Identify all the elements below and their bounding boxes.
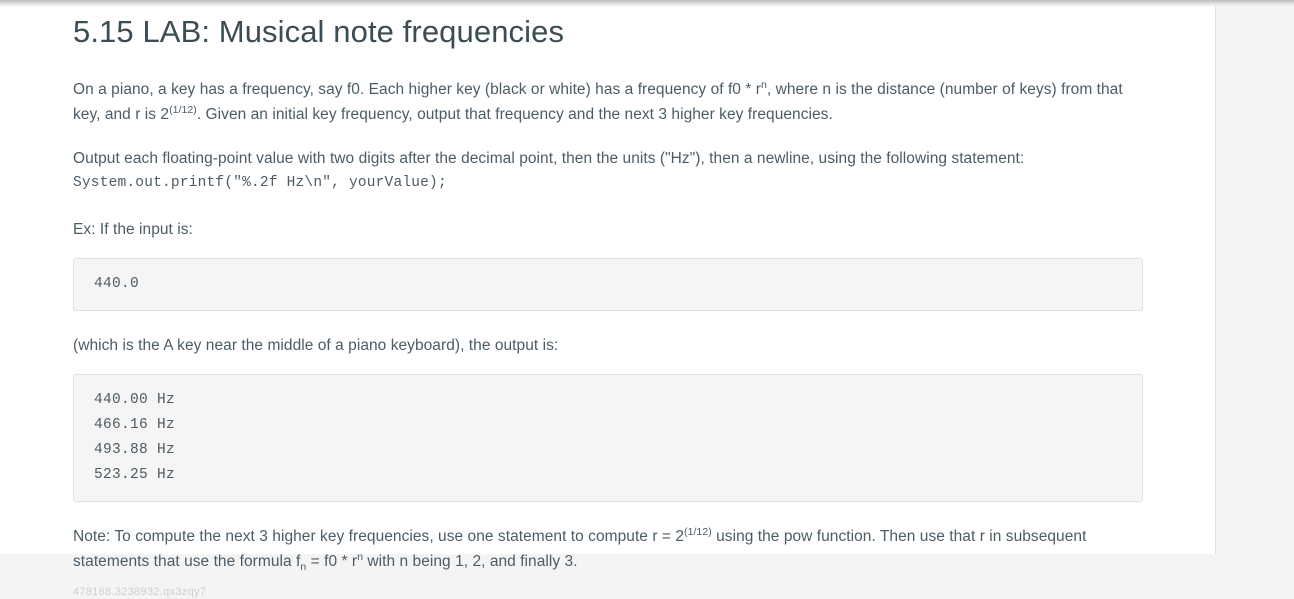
note-part3: = f0 * r [306, 553, 357, 570]
output-code-block: 440.00 Hz 466.16 Hz 493.88 Hz 523.25 Hz [73, 374, 1143, 502]
code-line: 523.25 Hz [94, 463, 1124, 488]
page-title: 5.15 LAB: Musical note frequencies [73, 0, 1143, 51]
intro-part1: On a piano, a key has a frequency, say f… [73, 81, 761, 98]
code-line: 440.0 [94, 272, 1124, 297]
intro-part3: . Given an initial key frequency, output… [197, 106, 833, 123]
intro-superscript-fraction: (1/12) [169, 104, 197, 116]
paragraph-which-label: (which is the A key near the middle of a… [73, 333, 1143, 358]
page-watermark: 478168.3238932.qx3zqy7 [73, 585, 1143, 599]
code-line: 440.00 Hz [94, 388, 1124, 413]
paragraph-intro: On a piano, a key has a frequency, say f… [73, 77, 1143, 127]
note-part1: Note: To compute the next 3 higher key f… [73, 528, 684, 545]
paragraph-example-label: Ex: If the input is: [73, 217, 1143, 242]
lab-page: 5.15 LAB: Musical note frequencies On a … [0, 0, 1294, 554]
lab-content: 5.15 LAB: Musical note frequencies On a … [73, 0, 1143, 599]
input-code-block: 440.0 [73, 258, 1143, 311]
note-part4: with n being 1, 2, and finally 3. [363, 553, 578, 570]
paragraph-note: Note: To compute the next 3 higher key f… [73, 524, 1143, 574]
page-gutter [1217, 0, 1294, 554]
note-superscript-fraction: (1/12) [684, 526, 712, 538]
code-line: 493.88 Hz [94, 438, 1124, 463]
paragraph-output-statement: Output each floating-point value with tw… [73, 146, 1143, 195]
top-shadow [0, 0, 1294, 7]
output-statement-text: Output each floating-point value with tw… [73, 150, 1024, 167]
printf-statement: System.out.printf("%.2f Hz\n", yourValue… [73, 171, 1143, 195]
code-line: 466.16 Hz [94, 413, 1124, 438]
